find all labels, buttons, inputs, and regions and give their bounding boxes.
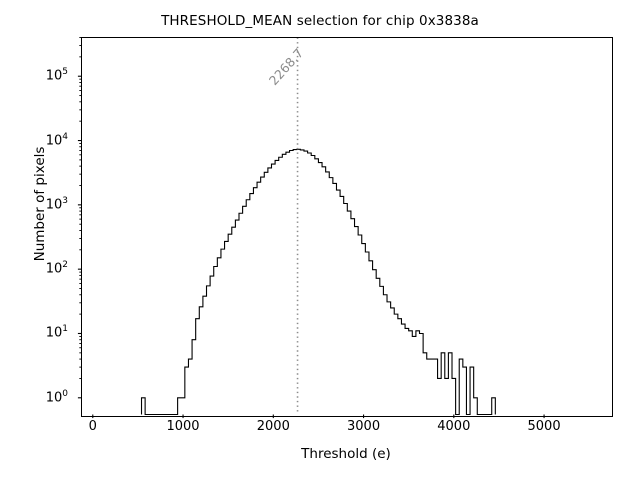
y-tick-label: 105 (0, 67, 74, 83)
y-tick-exponent: 2 (62, 260, 68, 270)
y-tick-mantissa: 10 (46, 197, 63, 212)
x-tick-label: 5000 (528, 419, 561, 434)
y-tick-exponent: 3 (62, 196, 68, 206)
y-tick-label: 101 (0, 324, 74, 340)
y-tick-mantissa: 10 (46, 69, 63, 84)
x-tick-label: 4000 (437, 419, 470, 434)
y-axis-label: Number of pixels (32, 84, 48, 324)
y-tick-label: 100 (0, 389, 74, 405)
x-tick-label: 2000 (257, 419, 290, 434)
y-tick-mantissa: 10 (46, 261, 63, 276)
x-axis-tick-labels: 010002000300040005000 (0, 419, 640, 441)
x-tick-label: 0 (89, 419, 97, 434)
y-tick-exponent: 5 (62, 67, 68, 77)
y-tick-mantissa: 10 (46, 133, 63, 148)
y-tick-exponent: 0 (62, 389, 68, 399)
x-tick-label: 3000 (347, 419, 380, 434)
matplotlib-figure: THRESHOLD_MEAN selection for chip 0x3838… (0, 0, 640, 480)
y-tick-exponent: 4 (62, 132, 68, 142)
y-tick-exponent: 1 (62, 324, 68, 334)
axes-frame (81, 37, 613, 417)
x-axis-label: Threshold (e) (81, 446, 611, 462)
x-tick-label: 1000 (166, 419, 199, 434)
y-tick-mantissa: 10 (46, 326, 63, 341)
y-tick-mantissa: 10 (46, 390, 63, 405)
